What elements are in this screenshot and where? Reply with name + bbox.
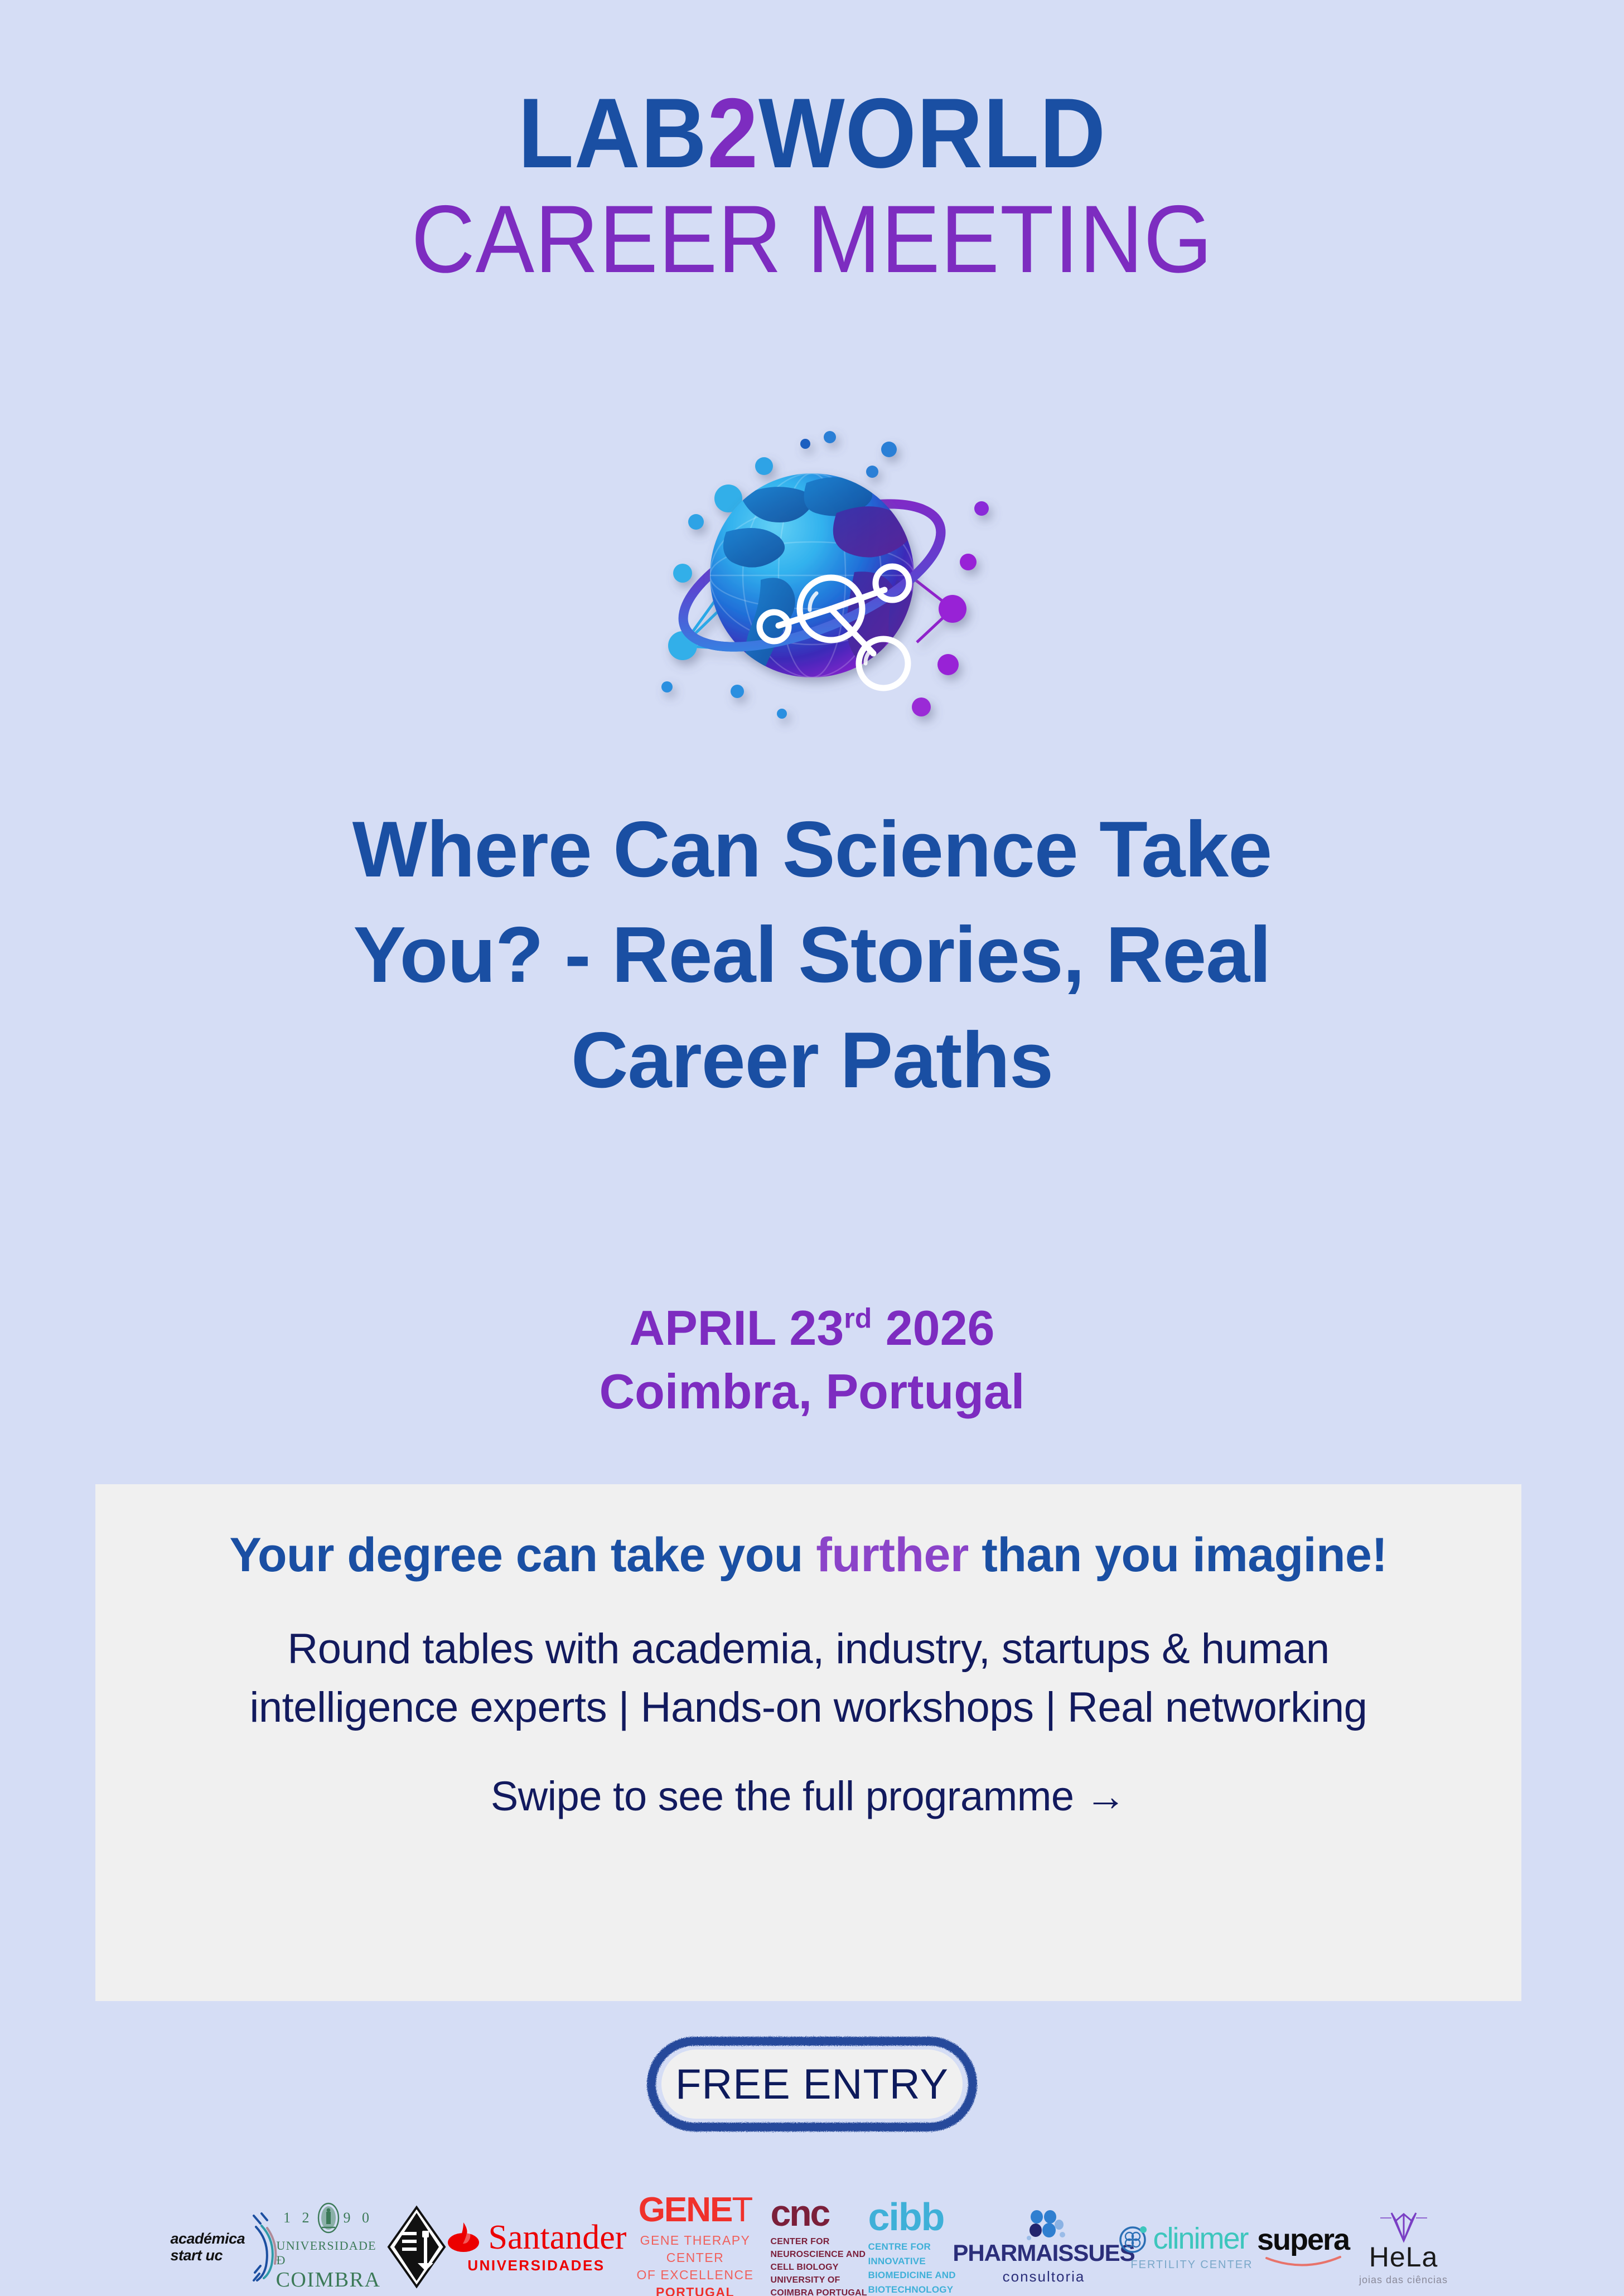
- headline-line-1: Where Can Science Take: [254, 797, 1370, 903]
- pharmaissues-wordmark: PHARMAISSUES: [953, 2241, 1134, 2265]
- brand-title-accent: 2: [707, 77, 758, 188]
- uc-crest-icon: [315, 2202, 342, 2234]
- cnc-sub: CENTER FOR NEUROSCIENCE AND CELL BIOLOGY…: [771, 2235, 868, 2296]
- headline-line-3: Career Paths: [254, 1008, 1370, 1113]
- event-details: APRIL 23rd 2026 Coimbra, Portugal: [0, 1296, 1624, 1424]
- clinimer-embryo-icon: [1118, 2223, 1149, 2254]
- info-lead-accent: further: [816, 1528, 969, 1582]
- sponsor-logo-associacao-academica-coimbra: [380, 2200, 453, 2294]
- free-entry-label: FREE ENTRY: [639, 2031, 985, 2138]
- page-title: Where Can Science Take You? - Real Stori…: [254, 797, 1370, 1113]
- genet-sub-2b: PORTUGAL: [656, 2285, 734, 2296]
- swipe-hint: Swipe to see the full programme →: [179, 1772, 1438, 1822]
- academica-swoosh-icon: [248, 2208, 277, 2286]
- free-entry-badge[interactable]: FREE ENTRY: [639, 2031, 985, 2138]
- genet-bold: GENE: [639, 2191, 732, 2229]
- event-subtitle: CAREER MEETING: [65, 183, 1559, 296]
- info-lead: Your degree can take you further than yo…: [179, 1524, 1438, 1587]
- cibb-wordmark: cibb: [868, 2197, 944, 2236]
- sponsor-logo-cnc: cnc CENTER FOR NEUROSCIENCE AND CELL BIO…: [771, 2200, 868, 2294]
- sponsor-logo-clinimer: clinimer FERTILITY CENTER: [1114, 2200, 1253, 2294]
- uc-year-left: 1 2: [283, 2210, 313, 2226]
- genet-sub-2a: OF EXCELLENCE: [637, 2268, 754, 2282]
- hela-wordmark: HeLa: [1369, 2243, 1438, 2271]
- supera-wordmark: supera: [1257, 2225, 1349, 2255]
- pharmaissues-sub: consultoria: [1003, 2268, 1085, 2285]
- event-date-ordinal: rd: [844, 1303, 872, 1334]
- brand-title: LAB2WORLD: [65, 84, 1559, 183]
- brand-title-part2: WORLD: [758, 77, 1106, 188]
- event-date-text: APRIL 23: [630, 1300, 844, 1355]
- aac-diamond-icon: [386, 2205, 447, 2289]
- hela-gem-icon: [1377, 2208, 1430, 2243]
- hela-sub: joias das ciências: [1359, 2274, 1448, 2286]
- uc-line-2: COIMBRA: [276, 2268, 381, 2292]
- sponsor-logo-hela: HeLa joias das ciências: [1354, 2200, 1454, 2294]
- santander-wordmark: Santander: [489, 2220, 627, 2255]
- sponsor-logo-santander-universidades: Santander UNIVERSIDADES: [453, 2200, 620, 2294]
- sponsor-logo-pharmaissues: PHARMAISSUES consultoria: [974, 2200, 1114, 2294]
- academica-line-2: start uc: [171, 2247, 245, 2264]
- sponsor-logo-strip: académica start uc: [0, 2198, 1624, 2296]
- info-panel: Your degree can take you further than yo…: [95, 1484, 1521, 2001]
- info-lead-after: than you imagine!: [969, 1528, 1388, 1582]
- brand-title-part1: LAB: [518, 77, 707, 188]
- sponsor-logo-genet: GENET GENE THERAPY CENTER OF EXCELLENCE …: [620, 2200, 771, 2294]
- clinimer-wordmark: clinimer: [1153, 2224, 1248, 2254]
- info-lead-before: Your degree can take you: [229, 1528, 816, 1582]
- poster-root: LAB2WORLD CAREER MEETING: [0, 0, 1624, 2296]
- globe-network-molecule-icon: [611, 413, 1013, 736]
- title-block: LAB2WORLD CAREER MEETING: [0, 84, 1624, 296]
- event-location: Coimbra, Portugal: [0, 1360, 1624, 1423]
- santander-flame-icon: [446, 2220, 481, 2255]
- pharmaissues-cells-icon: [1020, 2209, 1068, 2241]
- santander-sub: UNIVERSIDADES: [467, 2257, 605, 2274]
- academica-line-1: académica: [171, 2230, 245, 2247]
- uc-line-1: UNIVERSIDADE Ð: [277, 2239, 380, 2268]
- uc-year-right: 9 0: [344, 2210, 374, 2226]
- headline-line-2: You? - Real Stories, Real: [254, 903, 1370, 1008]
- sponsor-logo-academica-start-uc: académica start uc: [171, 2200, 277, 2294]
- genet-sub-1: GENE THERAPY CENTER: [620, 2232, 771, 2266]
- clinimer-sub: FERTILITY CENTER: [1130, 2259, 1253, 2271]
- event-year: 2026: [886, 1300, 995, 1355]
- sponsor-logo-universidade-de-coimbra: 1 2 9 0 UNIVERSIDADE Ð COIMBRA: [277, 2200, 380, 2294]
- supera-swoosh-icon: [1264, 2255, 1342, 2269]
- info-body: Round tables with academia, industry, st…: [179, 1620, 1438, 1737]
- genet-thin: T: [732, 2191, 752, 2229]
- sponsor-logo-supera: supera: [1253, 2200, 1354, 2294]
- cnc-wordmark: cnc: [771, 2195, 829, 2231]
- event-date: APRIL 23rd 2026: [0, 1296, 1624, 1360]
